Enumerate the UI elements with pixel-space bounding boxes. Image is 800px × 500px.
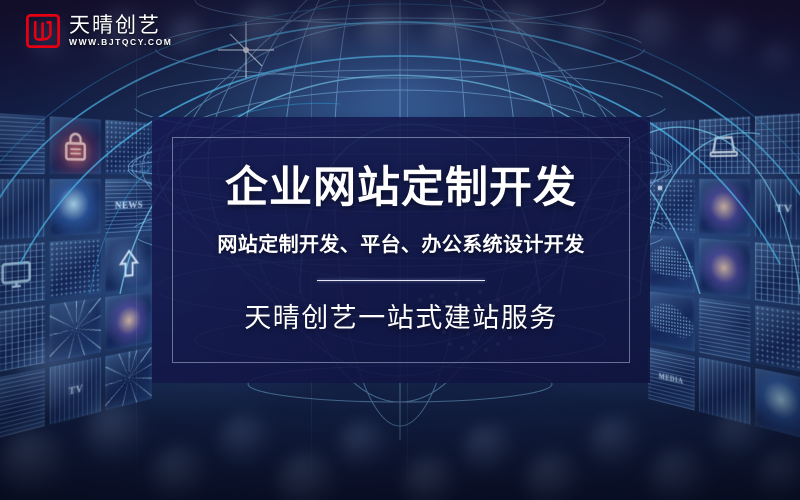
banner-divider — [317, 280, 485, 281]
bokeh-light — [700, 318, 748, 366]
bokeh-light — [706, 16, 750, 60]
banner-panel-border: 企业网站定制开发 网站定制开发、平台、办公系统设计开发 天晴创艺一站式建站服务 — [172, 137, 630, 363]
light-streak — [136, 0, 137, 500]
bokeh-light — [360, 4, 410, 54]
bokeh-light — [566, 14, 608, 56]
bokeh-light — [300, 12, 344, 56]
tile-worldmap-2 — [648, 291, 694, 351]
tianqing-logo-mark-icon — [26, 14, 60, 48]
bokeh-light — [760, 40, 798, 78]
bokeh-light — [430, 10, 476, 56]
bokeh-light — [742, 132, 798, 188]
bokeh-light — [338, 420, 390, 472]
bokeh-light — [496, 2, 550, 56]
bokeh-light — [150, 446, 210, 500]
tile-sphere — [755, 305, 800, 374]
banner-subtitle: 网站定制开发、平台、办公系统设计开发 — [217, 234, 584, 254]
bokeh-light — [756, 450, 800, 500]
banner-title: 企业网站定制开发 — [225, 167, 577, 210]
bokeh-light — [0, 430, 70, 500]
bokeh-light — [632, 6, 682, 56]
banner-stage: NEWSTV TVMEDIA — [0, 0, 800, 500]
bokeh-light — [168, 14, 208, 54]
bokeh-light — [462, 424, 516, 478]
bokeh-light — [84, 402, 150, 468]
tile-nebula — [105, 291, 151, 351]
bokeh-light — [712, 408, 770, 466]
bokeh-light — [588, 416, 644, 472]
bokeh-light — [218, 414, 274, 470]
bokeh-light — [238, 2, 290, 54]
banner-tagline: 天晴创艺一站式建站服务 — [244, 305, 558, 332]
bokeh-light — [20, 340, 98, 418]
bokeh-light — [56, 302, 102, 348]
brand-logo[interactable]: 天晴创艺 WWW.BJTQCY.COM — [26, 14, 172, 48]
banner-panel: 企业网站定制开发 网站定制开发、平台、办公系统设计开发 天晴创艺一站式建站服务 — [152, 117, 650, 383]
brand-website-url: WWW.BJTQCY.COM — [69, 38, 172, 47]
brand-name-cn: 天晴创艺 — [69, 15, 172, 36]
bokeh-light — [4, 118, 64, 178]
